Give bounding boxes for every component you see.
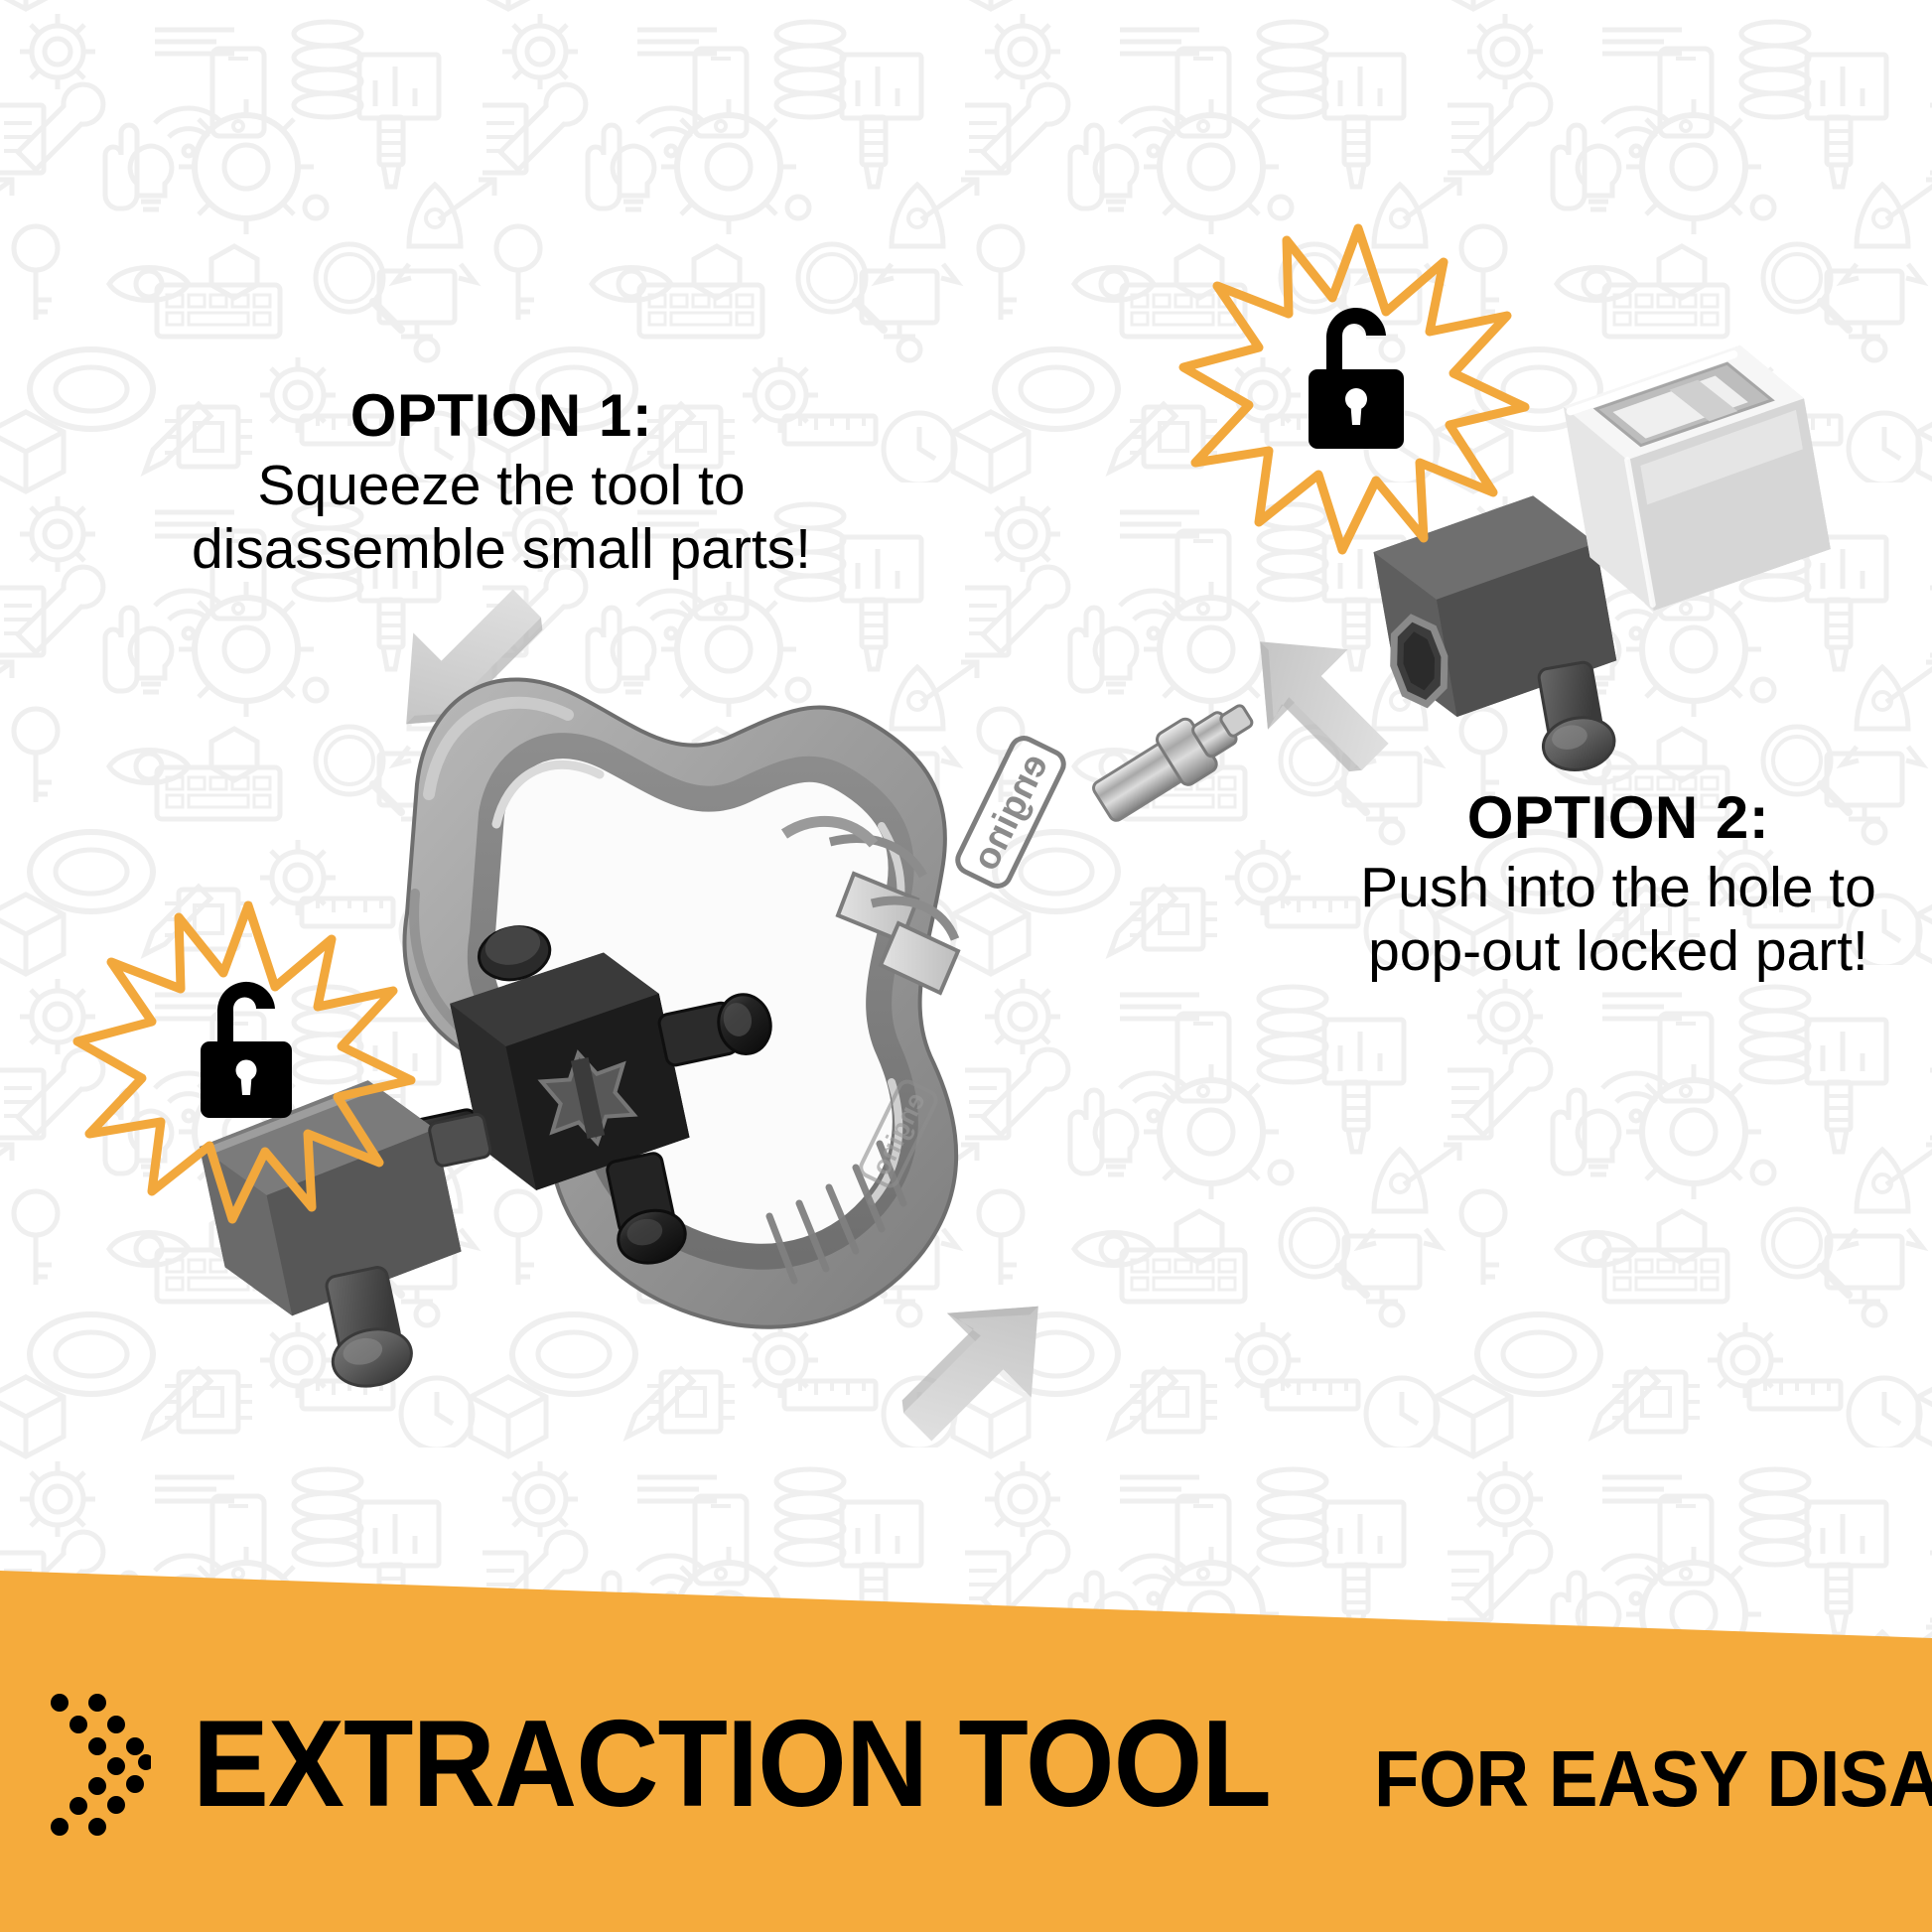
burst-unlock-right: [1183, 228, 1525, 550]
infographic-page: engino engino: [0, 0, 1932, 1932]
arrow-up-left-icon: [876, 1264, 1080, 1468]
banner-title: EXTRACTION TOOL: [193, 1694, 1271, 1835]
callout-option-1: OPTION 1: Squeeze the tool to disassembl…: [119, 382, 884, 582]
engino-dot-chevron-logo: [48, 1689, 151, 1840]
option-1-body: Squeeze the tool to disassemble small pa…: [119, 455, 884, 582]
brand-molding: engino: [953, 734, 1067, 891]
arrow-up-right-icon: [1220, 602, 1416, 797]
banner-text-group: EXTRACTION TOOL FOR EASY DISASSEMBLY: [193, 1694, 1932, 1835]
bottom-banner: EXTRACTION TOOL FOR EASY DISASSEMBLY: [0, 1549, 1932, 1932]
banner-content: EXTRACTION TOOL FOR EASY DISASSEMBLY: [0, 1549, 1932, 1932]
banner-subtitle: FOR EASY DISASSEMBLY: [1374, 1733, 1932, 1825]
open-padlock-icon: [1309, 308, 1404, 449]
option-2-body: Push into the hole to pop-out locked par…: [1340, 857, 1896, 984]
option-1-title: OPTION 1:: [119, 382, 884, 449]
callout-option-2: OPTION 2: Push into the hole to pop-out …: [1340, 784, 1896, 984]
tool-ejector-pin: [1087, 689, 1264, 830]
option-2-title: OPTION 2:: [1340, 784, 1896, 851]
open-padlock-icon: [201, 982, 292, 1118]
